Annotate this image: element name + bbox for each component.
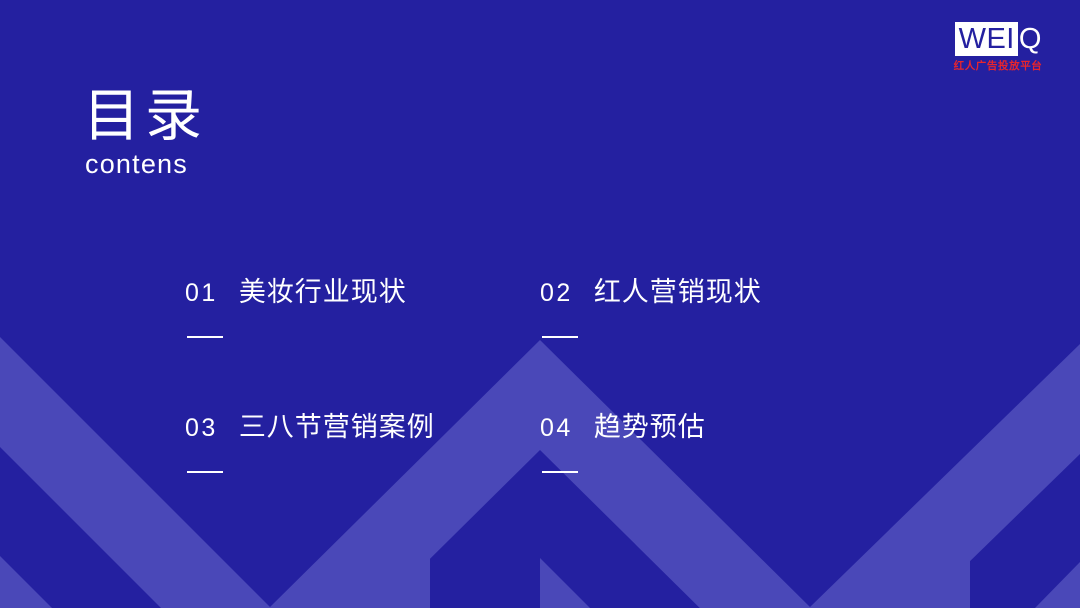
contents-item-01-row: 01 美妆行业现状: [185, 270, 540, 309]
contents-item-01-rule: [187, 336, 223, 338]
contents-item-02[interactable]: 02 红人营销现状: [540, 270, 895, 405]
slide-canvas: WEI Q 红人广告投放平台 目录 contens 01 美妆行业现状 02 红…: [0, 0, 1080, 608]
logo-tagline: 红人广告投放平台: [942, 61, 1054, 72]
contents-item-04-row: 04 趋势预估: [540, 405, 895, 444]
logo-wordmark: WEI Q: [942, 22, 1054, 56]
contents-item-04[interactable]: 04 趋势预估: [540, 405, 895, 540]
contents-item-02-row: 02 红人营销现状: [540, 270, 895, 309]
contents-list: 01 美妆行业现状 02 红人营销现状 03 三八节营销案例 04 趋势预估: [185, 270, 985, 540]
contents-item-04-rule: [542, 471, 578, 473]
contents-item-01-number: 01: [185, 279, 218, 308]
contents-item-01[interactable]: 01 美妆行业现状: [185, 270, 540, 405]
logo-wei-box: WEI: [955, 22, 1018, 56]
page-title-cn: 目录: [83, 86, 207, 148]
page-title: 目录 contens: [83, 86, 207, 179]
logo-q-letter: Q: [1018, 22, 1042, 56]
page-title-en: contens: [85, 150, 207, 180]
contents-item-01-label: 美妆行业现状: [239, 270, 407, 309]
contents-item-03-row: 03 三八节营销案例: [185, 405, 540, 444]
contents-item-03-rule: [187, 471, 223, 473]
contents-item-03[interactable]: 03 三八节营销案例: [185, 405, 540, 540]
contents-item-04-number: 04: [540, 414, 573, 443]
contents-item-03-number: 03: [185, 414, 218, 443]
contents-item-03-label: 三八节营销案例: [239, 405, 435, 444]
contents-item-02-label: 红人营销现状: [594, 270, 762, 309]
brand-logo: WEI Q 红人广告投放平台: [942, 22, 1054, 72]
contents-item-02-rule: [542, 336, 578, 338]
contents-item-04-label: 趋势预估: [594, 405, 706, 444]
contents-item-02-number: 02: [540, 279, 573, 308]
